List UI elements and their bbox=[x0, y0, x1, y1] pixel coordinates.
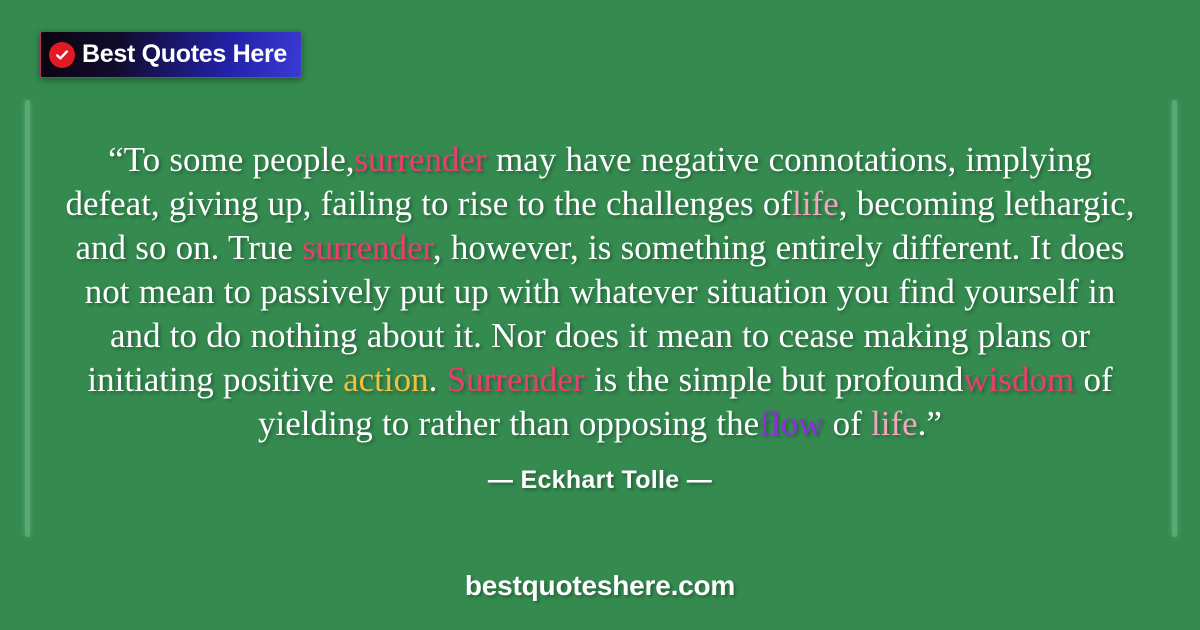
brand-badge-label: Best Quotes Here bbox=[82, 42, 287, 67]
quote-highlight-gold: action bbox=[343, 360, 429, 399]
quote-segment: is the simple but profound bbox=[585, 360, 964, 399]
quote-text: “To some people,surrender may have negat… bbox=[60, 138, 1140, 446]
site-footer: bestquoteshere.com bbox=[0, 570, 1200, 602]
quote-segment: . bbox=[429, 360, 447, 399]
quote-highlight-pink: wisdom bbox=[963, 360, 1074, 399]
quote-segment: of bbox=[823, 404, 871, 443]
quote-author: — Eckhart Tolle — bbox=[0, 466, 1200, 495]
quote-highlight-rose: life bbox=[792, 184, 839, 223]
quote-highlight-pink: surrender bbox=[355, 140, 487, 179]
quote-block: “To some people,surrender may have negat… bbox=[60, 138, 1140, 446]
quote-highlight-purple: flow bbox=[759, 404, 823, 443]
quote-highlight-pink: Surrender bbox=[447, 360, 585, 399]
check-circle-icon bbox=[49, 42, 75, 68]
quote-highlight-rose: life bbox=[871, 404, 918, 443]
quote-highlight-pink: surrender bbox=[302, 228, 433, 267]
brand-badge[interactable]: Best Quotes Here bbox=[40, 31, 302, 78]
quote-segment: “To some people, bbox=[108, 140, 354, 179]
quote-segment: .” bbox=[918, 404, 942, 443]
